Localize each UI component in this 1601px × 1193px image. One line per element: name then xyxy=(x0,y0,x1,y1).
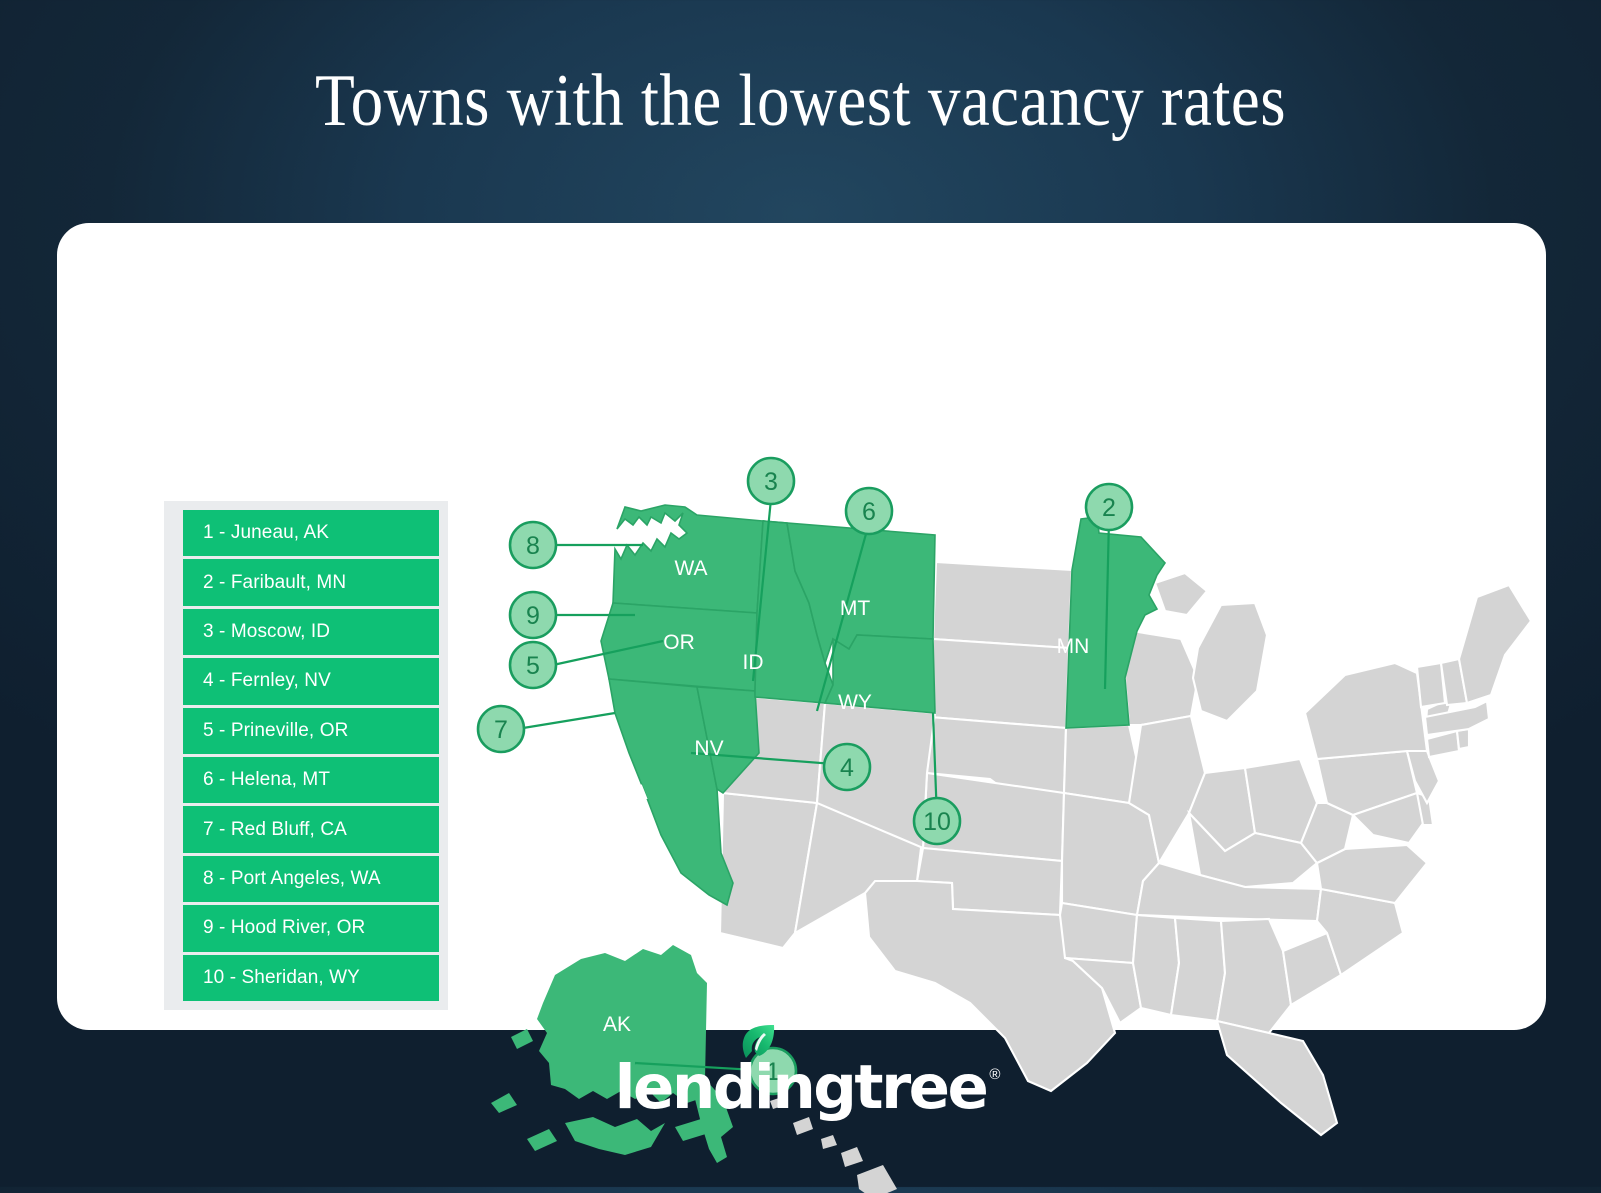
state-label-or: OR xyxy=(663,631,695,654)
map-marker-5[interactable]: 5 xyxy=(510,642,556,688)
map-marker-2[interactable]: 2 xyxy=(1086,484,1132,530)
legend-item-5[interactable]: 5 - Prineville, OR xyxy=(183,708,439,754)
state-ri xyxy=(1457,729,1469,749)
svg-text:8: 8 xyxy=(526,532,540,560)
svg-text:10: 10 xyxy=(923,808,951,836)
state-ga xyxy=(1217,919,1291,1033)
map-marker-6[interactable]: 6 xyxy=(846,488,892,534)
logo-wordmark: lendingtree xyxy=(615,1052,987,1123)
map-marker-4[interactable]: 4 xyxy=(824,744,870,790)
legend-item-9[interactable]: 9 - Hood River, OR xyxy=(183,905,439,951)
state-label-mn: MN xyxy=(1057,635,1090,658)
state-ia xyxy=(1064,725,1141,803)
state-nd xyxy=(933,562,1072,648)
state-label-mt: MT xyxy=(840,597,870,620)
state-ms xyxy=(1133,915,1179,1015)
map-card: 1 - Juneau, AK 2 - Faribault, MN 3 - Mos… xyxy=(57,223,1546,1030)
svg-text:7: 7 xyxy=(494,716,508,744)
svg-text:2: 2 xyxy=(1102,494,1116,522)
map-marker-10[interactable]: 10 xyxy=(914,798,960,844)
legend-item-1[interactable]: 1 - Juneau, AK xyxy=(183,510,439,556)
lendingtree-logo[interactable]: lendingtree ® xyxy=(615,1052,987,1123)
map-marker-9[interactable]: 9 xyxy=(510,592,556,638)
map-marker-3[interactable]: 3 xyxy=(748,458,794,504)
svg-text:5: 5 xyxy=(526,652,540,680)
state-label-id: ID xyxy=(743,651,764,674)
svg-text:6: 6 xyxy=(862,498,876,526)
legend-panel: 1 - Juneau, AK 2 - Faribault, MN 3 - Mos… xyxy=(164,501,448,1010)
state-label-ca: CA xyxy=(618,781,647,804)
svg-text:9: 9 xyxy=(526,602,540,630)
legend-item-2[interactable]: 2 - Faribault, MN xyxy=(183,559,439,605)
legend-item-8[interactable]: 8 - Port Angeles, WA xyxy=(183,856,439,902)
state-sd xyxy=(930,639,1069,728)
state-label-nv: NV xyxy=(694,737,723,760)
state-label-wy: WY xyxy=(838,691,872,714)
legend-item-4[interactable]: 4 - Fernley, NV xyxy=(183,658,439,704)
svg-text:4: 4 xyxy=(840,754,854,782)
state-label-ak: AK xyxy=(603,1013,631,1036)
map-marker-8[interactable]: 8 xyxy=(510,522,556,568)
map-marker-7[interactable]: 7 xyxy=(478,706,524,752)
legend-item-7[interactable]: 7 - Red Bluff, CA xyxy=(183,806,439,852)
state-wi xyxy=(1125,631,1198,725)
legend-item-6[interactable]: 6 - Helena, MT xyxy=(183,757,439,803)
legend-item-10[interactable]: 10 - Sheridan, WY xyxy=(183,955,439,1001)
legend-item-3[interactable]: 3 - Moscow, ID xyxy=(183,609,439,655)
state-vt xyxy=(1417,663,1445,707)
footer-logo: lendingtree ® xyxy=(0,1052,1601,1123)
legend-list: 1 - Juneau, AK 2 - Faribault, MN 3 - Mos… xyxy=(183,510,439,1001)
svg-text:3: 3 xyxy=(764,468,778,496)
registered-mark: ® xyxy=(989,1066,1000,1083)
page-title: Towns with the lowest vacancy rates xyxy=(96,63,1505,141)
state-label-wa: WA xyxy=(674,557,707,580)
leader-line-7 xyxy=(517,713,615,729)
state-me xyxy=(1459,585,1531,703)
state-al xyxy=(1171,918,1225,1021)
leaf-icon xyxy=(740,1024,776,1064)
